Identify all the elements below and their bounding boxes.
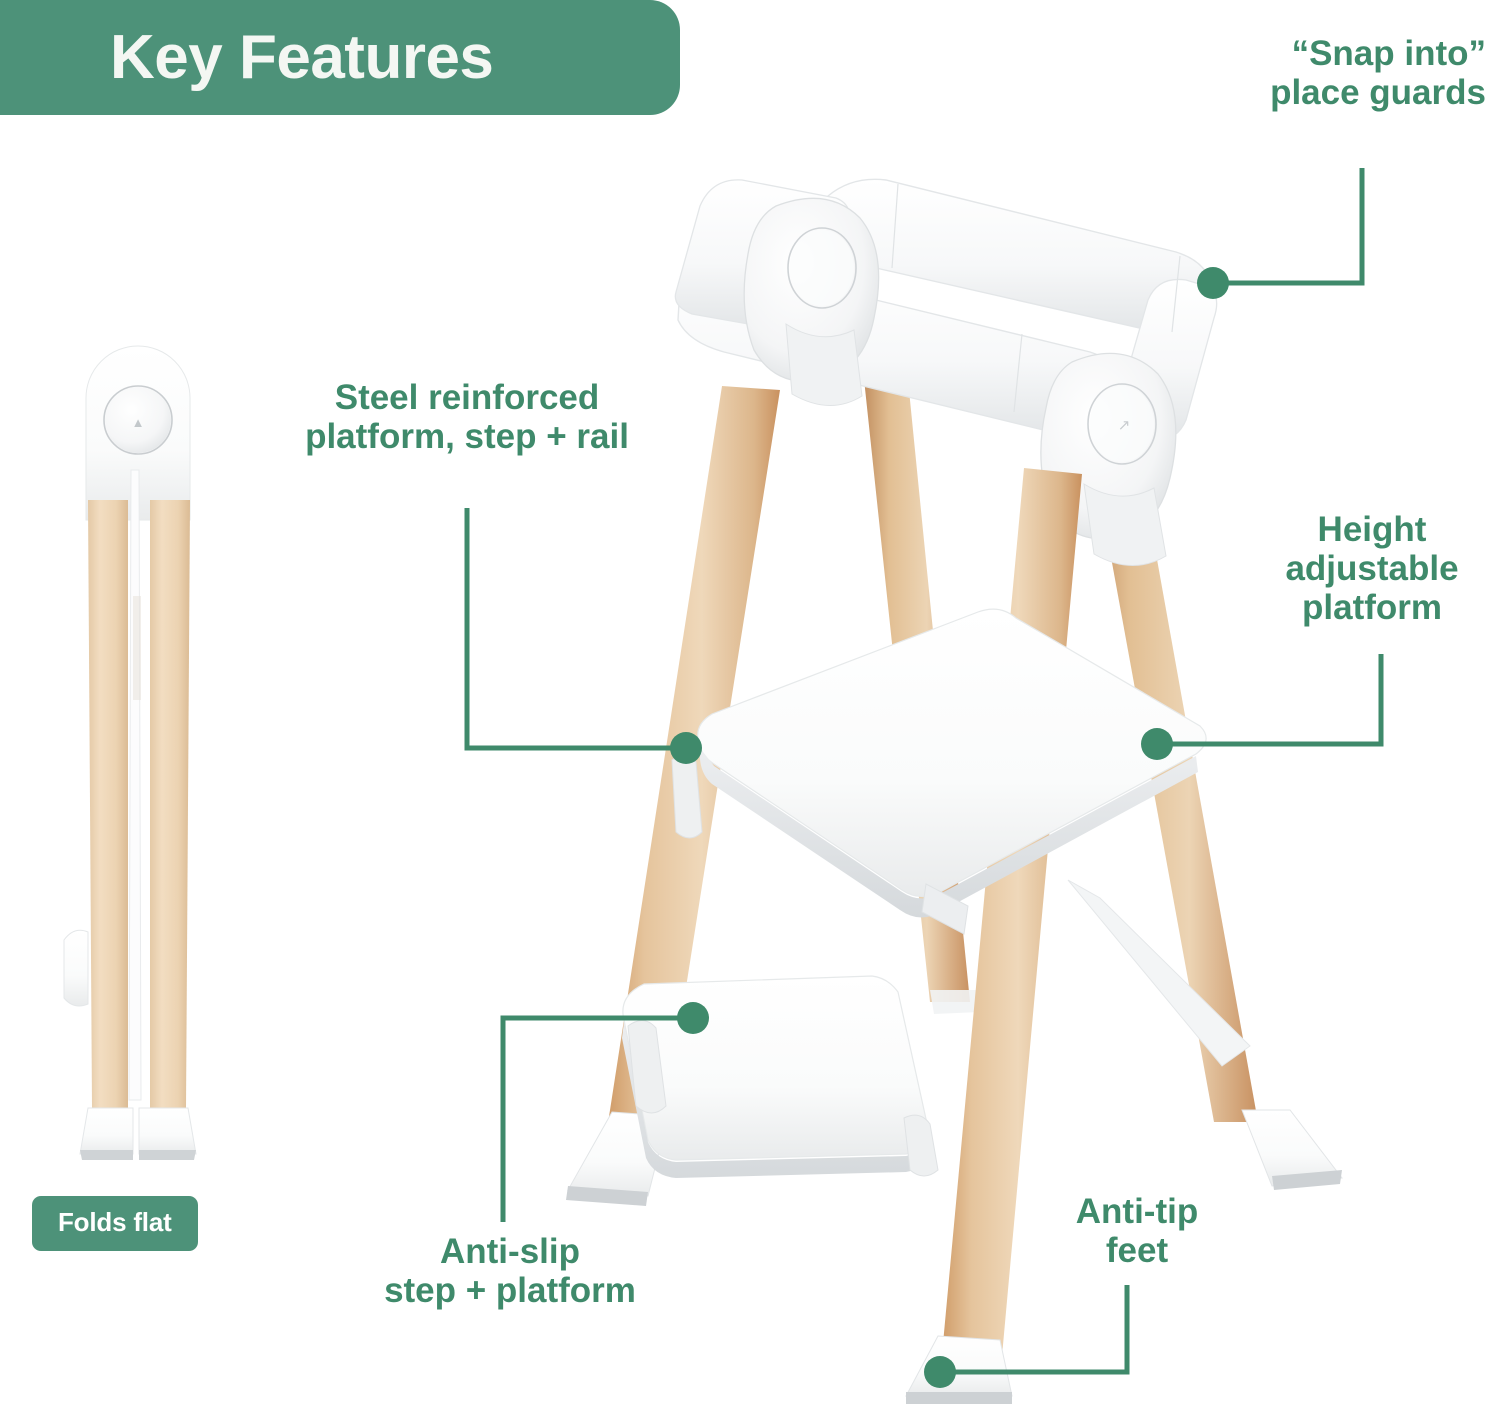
annotation-label-height-adjustable-platform: Height adjustable platform: [1252, 510, 1492, 628]
annotation-label-anti-slip-step-platform: Anti-slip step + platform: [310, 1232, 710, 1310]
hinge-knob-left: [744, 198, 879, 405]
key-features-banner: Key Features: [0, 0, 680, 115]
infographic-canvas: ▲: [0, 0, 1500, 1412]
folds-flat-badge: Folds flat: [32, 1196, 198, 1251]
anti-tip-foot: [906, 1336, 1012, 1404]
annotation-label-snap-into-place-guards: “Snap into” place guards: [1156, 34, 1486, 112]
folded-step-stool: ▲: [64, 346, 196, 1160]
page-title: Key Features: [110, 27, 493, 89]
upper-platform: [672, 609, 1206, 934]
lower-step: [622, 976, 938, 1178]
svg-text:↗: ↗: [1118, 417, 1131, 434]
annotation-label-anti-tip-feet: Anti-tip feet: [1002, 1192, 1272, 1270]
product-illustration: ▲: [0, 0, 1500, 1412]
svg-text:▲: ▲: [132, 415, 145, 430]
annotation-label-steel-reinforced-platform: Steel reinforced platform, step + rail: [232, 378, 702, 456]
folds-flat-label: Folds flat: [58, 1207, 172, 1237]
